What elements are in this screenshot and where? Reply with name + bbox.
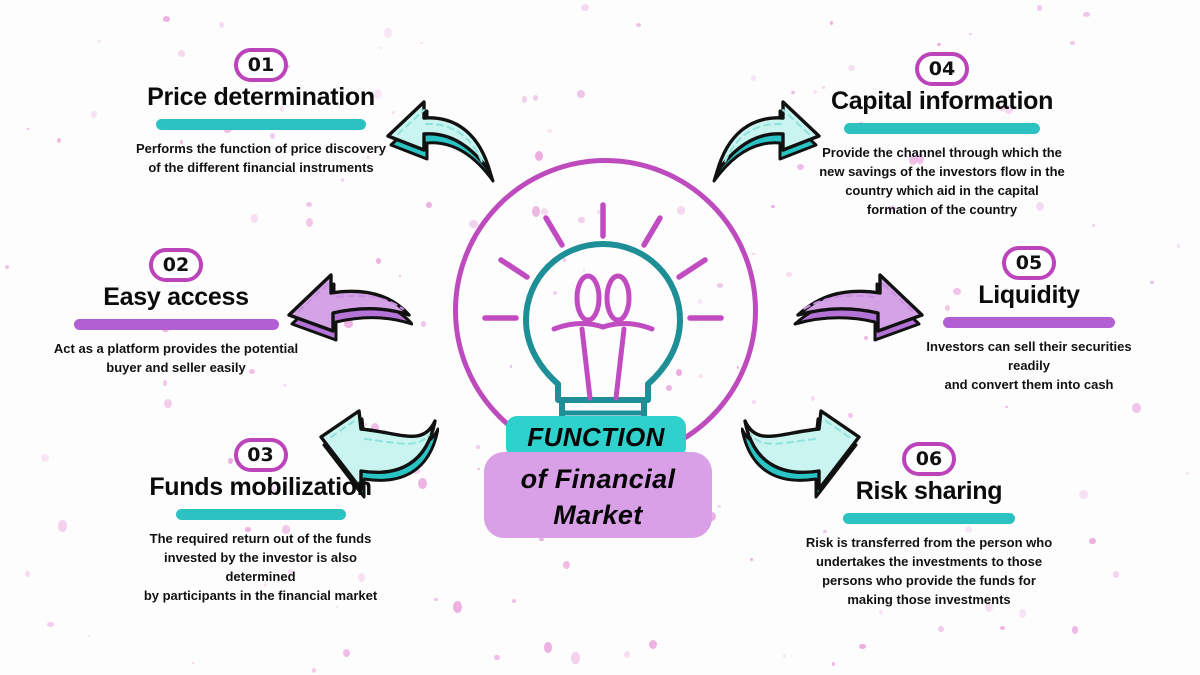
confetti-dot — [547, 129, 552, 133]
confetti-dot — [832, 662, 835, 666]
confetti-dot — [1079, 490, 1088, 499]
item-01-title: Price determination — [147, 83, 375, 112]
item-02-title: Easy access — [103, 283, 248, 312]
confetti-dot — [624, 651, 630, 658]
confetti-dot — [41, 454, 49, 462]
title-function-text: FUNCTION — [527, 422, 665, 453]
confetti-dot — [47, 622, 54, 627]
item-01-number: 01 — [234, 48, 288, 82]
item-04-desc-line: formation of the country — [819, 200, 1065, 219]
item-03-underline — [176, 509, 346, 520]
item-06: 06 Risk sharing Risk is transferred from… — [800, 442, 1058, 609]
item-01-underline — [156, 119, 366, 130]
confetti-dot — [384, 28, 392, 38]
item-05-desc-line: Investors can sell their securities read… — [910, 337, 1148, 375]
item-06-title: Risk sharing — [856, 477, 1002, 506]
confetti-dot — [1072, 626, 1078, 634]
arrow-to-item-02 — [281, 249, 413, 349]
confetti-dot — [969, 33, 972, 35]
confetti-dot — [636, 23, 641, 27]
confetti-dot — [1089, 538, 1096, 544]
item-05-desc-line: and convert them into cash — [910, 375, 1148, 394]
item-03-number: 03 — [234, 438, 288, 472]
title-badge-subject: of Financial Market — [484, 452, 712, 538]
item-06-description: Risk is transferred from the person who … — [806, 533, 1052, 609]
item-04-desc-line: Provide the channel through which the — [819, 143, 1065, 162]
confetti-dot — [91, 111, 97, 118]
confetti-dot — [1132, 403, 1141, 413]
title-subject-line2: Market — [553, 497, 642, 533]
confetti-dot — [336, 606, 338, 608]
item-03-desc-line: by participants in the financial market — [128, 586, 393, 605]
confetti-dot — [533, 95, 538, 101]
confetti-dot — [312, 668, 316, 673]
confetti-dot — [522, 96, 527, 103]
confetti-dot — [27, 128, 29, 130]
confetti-dot — [544, 642, 552, 653]
bulb-glass — [526, 244, 680, 400]
confetti-dot — [343, 649, 350, 657]
confetti-dot — [512, 599, 516, 603]
confetti-dot — [1000, 626, 1005, 630]
item-05-description: Investors can sell their securities read… — [910, 337, 1148, 394]
confetti-dot — [1150, 281, 1154, 284]
confetti-dot — [879, 610, 883, 615]
item-02-underline — [74, 319, 279, 330]
confetti-dot — [1092, 224, 1095, 227]
item-01-desc-line: Performs the function of price discovery — [136, 139, 386, 158]
item-04-underline — [844, 123, 1040, 134]
confetti-dot — [1070, 41, 1075, 45]
confetti-dot — [306, 218, 313, 227]
item-06-underline — [843, 513, 1015, 524]
confetti-dot — [306, 202, 312, 207]
confetti-dot — [453, 601, 462, 613]
confetti-dot — [577, 90, 585, 98]
confetti-dot — [163, 16, 170, 22]
item-06-desc-line: making those investments — [806, 590, 1052, 609]
confetti-dot — [1186, 472, 1189, 475]
item-03-desc-line: The required return out of the funds — [128, 529, 393, 548]
confetti-dot — [581, 4, 589, 11]
infographic-canvas: FUNCTION of Financial Market 01 Price de… — [0, 0, 1200, 675]
confetti-dot — [421, 321, 426, 327]
item-04-title: Capital information — [831, 87, 1053, 116]
item-05-number: 05 — [1002, 246, 1056, 280]
arrow-to-item-05 — [790, 249, 930, 349]
item-06-desc-line: persons who provide the funds for — [806, 571, 1052, 590]
bulb-rays — [485, 205, 721, 318]
item-02-number: 02 — [149, 248, 203, 282]
confetti-dot — [937, 43, 941, 46]
confetti-dot — [98, 40, 100, 43]
item-05-underline — [943, 317, 1115, 328]
item-03-title: Funds mobilization — [149, 473, 371, 502]
item-03-desc-line: invested by the investor is also determi… — [128, 548, 393, 586]
confetti-dot — [164, 399, 172, 408]
confetti-dot — [783, 654, 786, 658]
item-04-desc-line: new savings of the investors flow in the — [819, 162, 1065, 181]
item-01: 01 Price determination Performs the func… — [130, 48, 392, 177]
item-02-desc-line: Act as a platform provides the potential — [54, 339, 298, 358]
bulb-filament — [554, 276, 652, 398]
item-04-desc-line: country which aid in the capital — [819, 181, 1065, 200]
item-02-description: Act as a platform provides the potential… — [54, 339, 298, 377]
confetti-dot — [563, 561, 570, 569]
confetti-dot — [434, 598, 438, 601]
confetti-dot — [571, 652, 580, 664]
item-06-desc-line: undertakes the investments to those — [806, 552, 1052, 571]
confetti-dot — [426, 202, 432, 208]
confetti-dot — [1113, 571, 1119, 578]
confetti-dot — [859, 644, 866, 649]
confetti-dot — [219, 22, 224, 28]
confetti-dot — [88, 635, 90, 637]
confetti-dot — [1177, 244, 1180, 248]
confetti-dot — [163, 380, 167, 386]
title-subject-line1: of Financial — [521, 461, 676, 497]
confetti-dot — [341, 178, 344, 182]
item-04-number: 04 — [915, 52, 969, 86]
center-graphic: FUNCTION of Financial Market — [438, 148, 768, 548]
item-01-description: Performs the function of price discovery… — [136, 139, 386, 177]
item-06-desc-line: Risk is transferred from the person who — [806, 533, 1052, 552]
confetti-dot — [1083, 12, 1090, 17]
item-03-description: The required return out of the funds inv… — [128, 529, 393, 605]
item-02: 02 Easy access Act as a platform provide… — [52, 248, 300, 377]
confetti-dot — [420, 42, 423, 44]
item-04-description: Provide the channel through which the ne… — [819, 143, 1065, 219]
confetti-dot — [771, 205, 775, 208]
confetti-dot — [58, 520, 67, 532]
confetti-dot — [494, 655, 500, 660]
item-03: 03 Funds mobilization The required retur… — [128, 438, 393, 605]
confetti-dot — [57, 138, 61, 143]
item-06-number: 06 — [902, 442, 956, 476]
confetti-dot — [251, 214, 258, 223]
item-04: 04 Capital information Provide the chann… — [818, 52, 1066, 219]
item-02-desc-line: buyer and seller easily — [54, 358, 298, 377]
confetti-dot — [1005, 406, 1008, 408]
confetti-dot — [5, 265, 9, 269]
item-05-title: Liquidity — [978, 281, 1079, 310]
item-05: 05 Liquidity Investors can sell their se… — [910, 246, 1148, 394]
confetti-dot — [25, 571, 30, 577]
confetti-dot — [1019, 609, 1026, 618]
confetti-dot — [1037, 5, 1042, 11]
confetti-dot — [751, 75, 756, 81]
item-01-desc-line: of the different financial instruments — [136, 158, 386, 177]
confetti-dot — [830, 21, 833, 25]
confetti-dot — [938, 626, 944, 632]
confetti-dot — [750, 558, 753, 561]
confetti-dot — [649, 640, 657, 649]
confetti-dot — [192, 662, 194, 664]
confetti-dot — [283, 384, 287, 387]
